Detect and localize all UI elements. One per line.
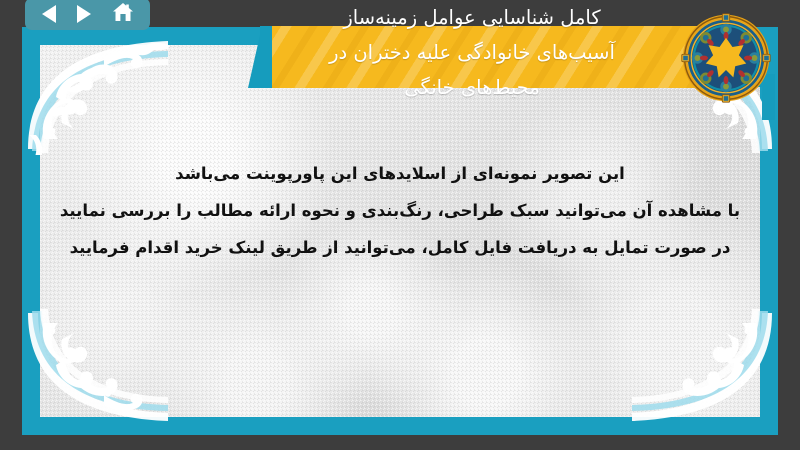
previous-slide-button[interactable]: [42, 5, 56, 23]
triangle-right-icon: [77, 5, 91, 23]
title-line-1: کامل شناسایی عوامل زمینه‌ساز: [262, 0, 682, 35]
slide-navigation-bar: [25, 0, 150, 30]
body-line-1: این تصویر نمونه‌ای از اسلایدهای این پاور…: [56, 155, 744, 192]
slide-title: کامل شناسایی عوامل زمینه‌ساز آسیب‌های خا…: [262, 0, 682, 105]
persian-medallion-icon: [680, 12, 772, 104]
next-slide-button[interactable]: [77, 5, 91, 23]
triangle-left-icon: [42, 5, 56, 23]
home-button[interactable]: [112, 2, 134, 26]
home-icon: [112, 2, 134, 26]
slide-viewer: این تصویر نمونه‌ای از اسلایدهای این پاور…: [0, 0, 800, 450]
body-line-2: با مشاهده آن می‌توانید سبک طراحی، رنگ‌بن…: [56, 192, 744, 229]
title-line-2: آسیب‌های خانوادگی علیه دختران در: [262, 35, 682, 70]
title-line-3: محیط‌های خانگی: [262, 70, 682, 105]
body-line-3: در صورت تمایل به دریافت فایل کامل، می‌تو…: [56, 229, 744, 266]
slide-body-text: این تصویر نمونه‌ای از اسلایدهای این پاور…: [56, 155, 744, 266]
